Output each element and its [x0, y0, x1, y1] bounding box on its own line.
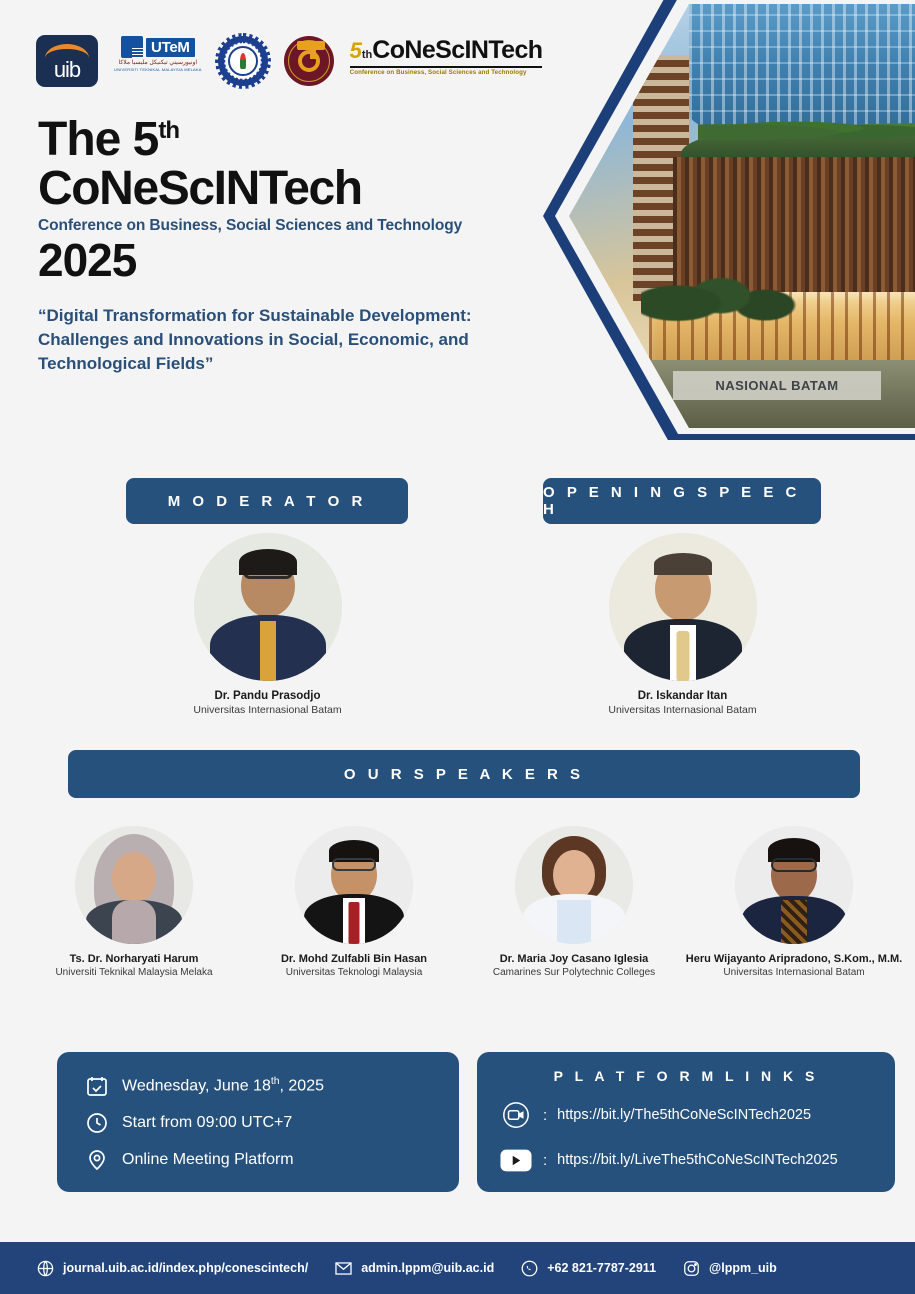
link-separator: : [543, 1152, 547, 1169]
glasses-icon [771, 858, 817, 872]
opening-speech-card: Dr. Iskandar Itan Universitas Internasio… [570, 533, 795, 716]
conesc-divider [350, 66, 543, 68]
opening-speech-section-label: O P E N I N G S P E E C H [543, 478, 821, 524]
conference-theme: “Digital Transformation for Sustainable … [38, 304, 498, 376]
avatar-hair [654, 553, 712, 575]
footer-email[interactable]: admin.lppm@uib.ac.id [334, 1259, 494, 1278]
palm-trees [641, 275, 841, 368]
utm-symbol-icon [298, 50, 320, 72]
avatar-head [112, 852, 156, 904]
speaker-name: Ts. Dr. Norharyati Harum [24, 953, 244, 965]
hero-image: NASIONAL BATAM U [525, 0, 915, 440]
avatar [609, 533, 757, 681]
speaker-name: Dr. Mohd Zulfabli Bin Hasan [244, 953, 464, 965]
moderator-org: Universitas Internasional Batam [155, 704, 380, 716]
event-time-row: Start from 09:00 UTC+7 [85, 1111, 459, 1135]
conference-year: 2025 [38, 235, 558, 286]
footer-website-text[interactable]: journal.uib.ac.id/index.php/conescintech… [63, 1261, 308, 1275]
moderator-name: Dr. Pandu Prasodjo [155, 690, 380, 702]
speakers-row: Ts. Dr. Norharyati Harum Universiti Tekn… [24, 826, 904, 978]
live-url[interactable]: https://bit.ly/LiveThe5thCoNeScINTech202… [557, 1152, 837, 1168]
footer-phone[interactable]: +62 821-7787-2911 [520, 1259, 656, 1278]
conesc-edition-suffix: th [362, 49, 372, 61]
uib-swoosh-icon [45, 44, 89, 58]
opening-speaker-name: Dr. Iskandar Itan [570, 690, 795, 702]
utem-logo: UTeM اونيورسيتي تيكنيكل مليسيا ملاكا UNI… [114, 36, 202, 86]
utem-logo-text: UTeM [146, 38, 195, 57]
opening-speaker-org: Universitas Internasional Batam [570, 704, 795, 716]
live-link-row[interactable]: : https://bit.ly/LiveThe5thCoNeScINTech2… [477, 1145, 895, 1175]
speaker-org: Camarines Sur Polytechnic Colleges [464, 967, 684, 978]
conesc-tagline: Conference on Business, Social Sciences … [350, 69, 527, 76]
conference-poster: NASIONAL BATAM U uib UTeM اونيورسيتي تيك… [0, 0, 915, 1294]
speaker-org: Universitas Teknologi Malaysia [244, 967, 464, 978]
avatar [735, 826, 853, 944]
speaker-name: Heru Wijayanto Aripradono, S.Kom., M.M. [684, 953, 904, 965]
conference-subtitle: Conference on Business, Social Sciences … [38, 217, 558, 235]
speaker-name: Dr. Maria Joy Casano Iglesia [464, 953, 684, 965]
avatar-embroidery [557, 900, 591, 944]
glasses-icon [332, 858, 376, 871]
building-facade-slats [673, 157, 915, 293]
conesc-wordmark: CoNeScINTech [372, 36, 542, 65]
location-pin-icon [85, 1148, 109, 1172]
conescintech-logo: 5 th CoNeScINTech Conference on Business… [350, 36, 543, 86]
link-separator: : [543, 1107, 547, 1124]
footer-phone-text[interactable]: +62 821-7787-2911 [547, 1261, 656, 1275]
globe-icon [36, 1259, 55, 1278]
avatar-hair [239, 549, 297, 575]
uib-logo: uib [36, 36, 98, 86]
title-ordinal-suffix: th [158, 117, 179, 144]
utem-subtitle: UNIVERSITI TEKNIKAL MALAYSIA MELAKA [114, 67, 202, 72]
envelope-icon [334, 1259, 353, 1278]
instagram-icon [682, 1259, 701, 1278]
page-title-line1: The 5th [38, 116, 558, 164]
platform-links-box: P L A T F O R M L I N K S : https://bit.… [477, 1052, 895, 1192]
whatsapp-icon [520, 1259, 539, 1278]
logo-row: uib UTeM اونيورسيتي تيكنيكل مليسيا ملاكا… [36, 36, 542, 86]
event-location-row: Online Meeting Platform [85, 1148, 459, 1172]
event-date-row: Wednesday, June 18th, 2025 [85, 1074, 459, 1098]
calendar-icon [85, 1074, 109, 1098]
title-block: The 5th CoNeScINTech Conference on Busin… [38, 116, 558, 376]
title-prefix: The 5 [38, 113, 158, 166]
speaker-card: Heru Wijayanto Aripradono, S.Kom., M.M. … [684, 826, 904, 978]
meeting-link-row[interactable]: : https://bit.ly/The5thCoNeScINTech2025 [477, 1100, 895, 1130]
campus-sign: NASIONAL BATAM [673, 371, 881, 401]
platform-links-title: P L A T F O R M L I N K S [477, 1068, 895, 1084]
avatar [75, 826, 193, 944]
clock-icon [85, 1111, 109, 1135]
youtube-icon [499, 1145, 533, 1175]
avatar-shirt [260, 621, 276, 681]
avatar-scarf [112, 900, 156, 944]
avatar [515, 826, 633, 944]
gear-inner-emblem [228, 46, 258, 76]
moderator-card: Dr. Pandu Prasodjo Universitas Internasi… [155, 533, 380, 716]
speakers-section-label: O U R S P E A K E R S [68, 750, 860, 798]
uib-logo-text: uib [54, 59, 80, 87]
avatar [295, 826, 413, 944]
footer-instagram[interactable]: @lppm_uib [682, 1259, 777, 1278]
avatar-tie [676, 631, 689, 681]
moderator-section-label: M O D E R A T O R [126, 478, 408, 524]
avatar [194, 533, 342, 681]
conesc-edition-number: 5 [350, 38, 362, 64]
event-time-text: Start from 09:00 UTC+7 [122, 1114, 292, 1132]
campus-building-photo: NASIONAL BATAM U [569, 4, 915, 428]
event-date-text: Wednesday, June 18th, 2025 [122, 1076, 324, 1095]
ikatan-gear-logo [218, 36, 268, 86]
footer-website[interactable]: journal.uib.ac.id/index.php/conescintech… [36, 1259, 308, 1278]
speaker-org: Universiti Teknikal Malaysia Melaka [24, 967, 244, 978]
page-title-line2: CoNeScINTech [38, 164, 558, 214]
avatar-batik [781, 900, 807, 944]
event-details-box: Wednesday, June 18th, 2025 Start from 09… [57, 1052, 459, 1192]
speaker-org: Universitas Internasional Batam [684, 967, 904, 978]
avatar-tie [349, 902, 360, 944]
speaker-card: Dr. Mohd Zulfabli Bin Hasan Universitas … [244, 826, 464, 978]
event-location-text: Online Meeting Platform [122, 1151, 294, 1169]
footer-instagram-text[interactable]: @lppm_uib [709, 1261, 777, 1275]
footer-bar: journal.uib.ac.id/index.php/conescintech… [0, 1242, 915, 1294]
video-camera-icon [499, 1100, 533, 1130]
utem-mark-icon [121, 36, 143, 58]
footer-email-text[interactable]: admin.lppm@uib.ac.id [361, 1261, 494, 1275]
avatar-head [553, 850, 595, 900]
flame-icon [240, 53, 246, 69]
speaker-card: Dr. Maria Joy Casano Iglesia Camarines S… [464, 826, 684, 978]
utem-arabic-text: اونيورسيتي تيكنيكل مليسيا ملاكا [119, 59, 197, 66]
utm-logo [284, 36, 334, 86]
speaker-card: Ts. Dr. Norharyati Harum Universiti Tekn… [24, 826, 244, 978]
meeting-url[interactable]: https://bit.ly/The5thCoNeScINTech2025 [557, 1107, 811, 1123]
